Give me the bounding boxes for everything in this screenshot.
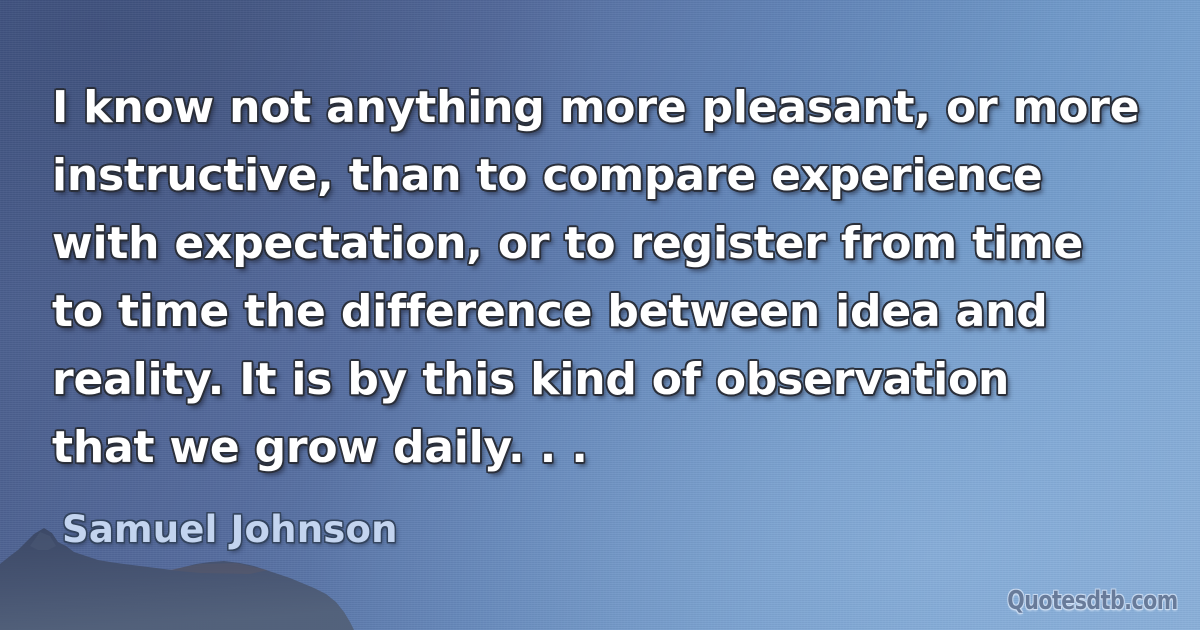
quote-line: reality. It is by this kind of observati… bbox=[52, 346, 1162, 414]
quote-author: Samuel Johnson bbox=[62, 508, 398, 551]
quote-text-block: I know not anything more pleasant, or mo… bbox=[52, 74, 1162, 482]
quote-line: to time the difference between idea and bbox=[52, 278, 1162, 346]
quote-image-canvas: I know not anything more pleasant, or mo… bbox=[0, 0, 1200, 630]
quote-line: with expectation, or to register from ti… bbox=[52, 210, 1162, 278]
quote-line: I know not anything more pleasant, or mo… bbox=[52, 74, 1162, 142]
site-watermark: Quotesdtb.com bbox=[1008, 586, 1178, 616]
quote-line: instructive, than to compare experience bbox=[52, 142, 1162, 210]
quote-line: that we grow daily. . . bbox=[52, 414, 1162, 482]
